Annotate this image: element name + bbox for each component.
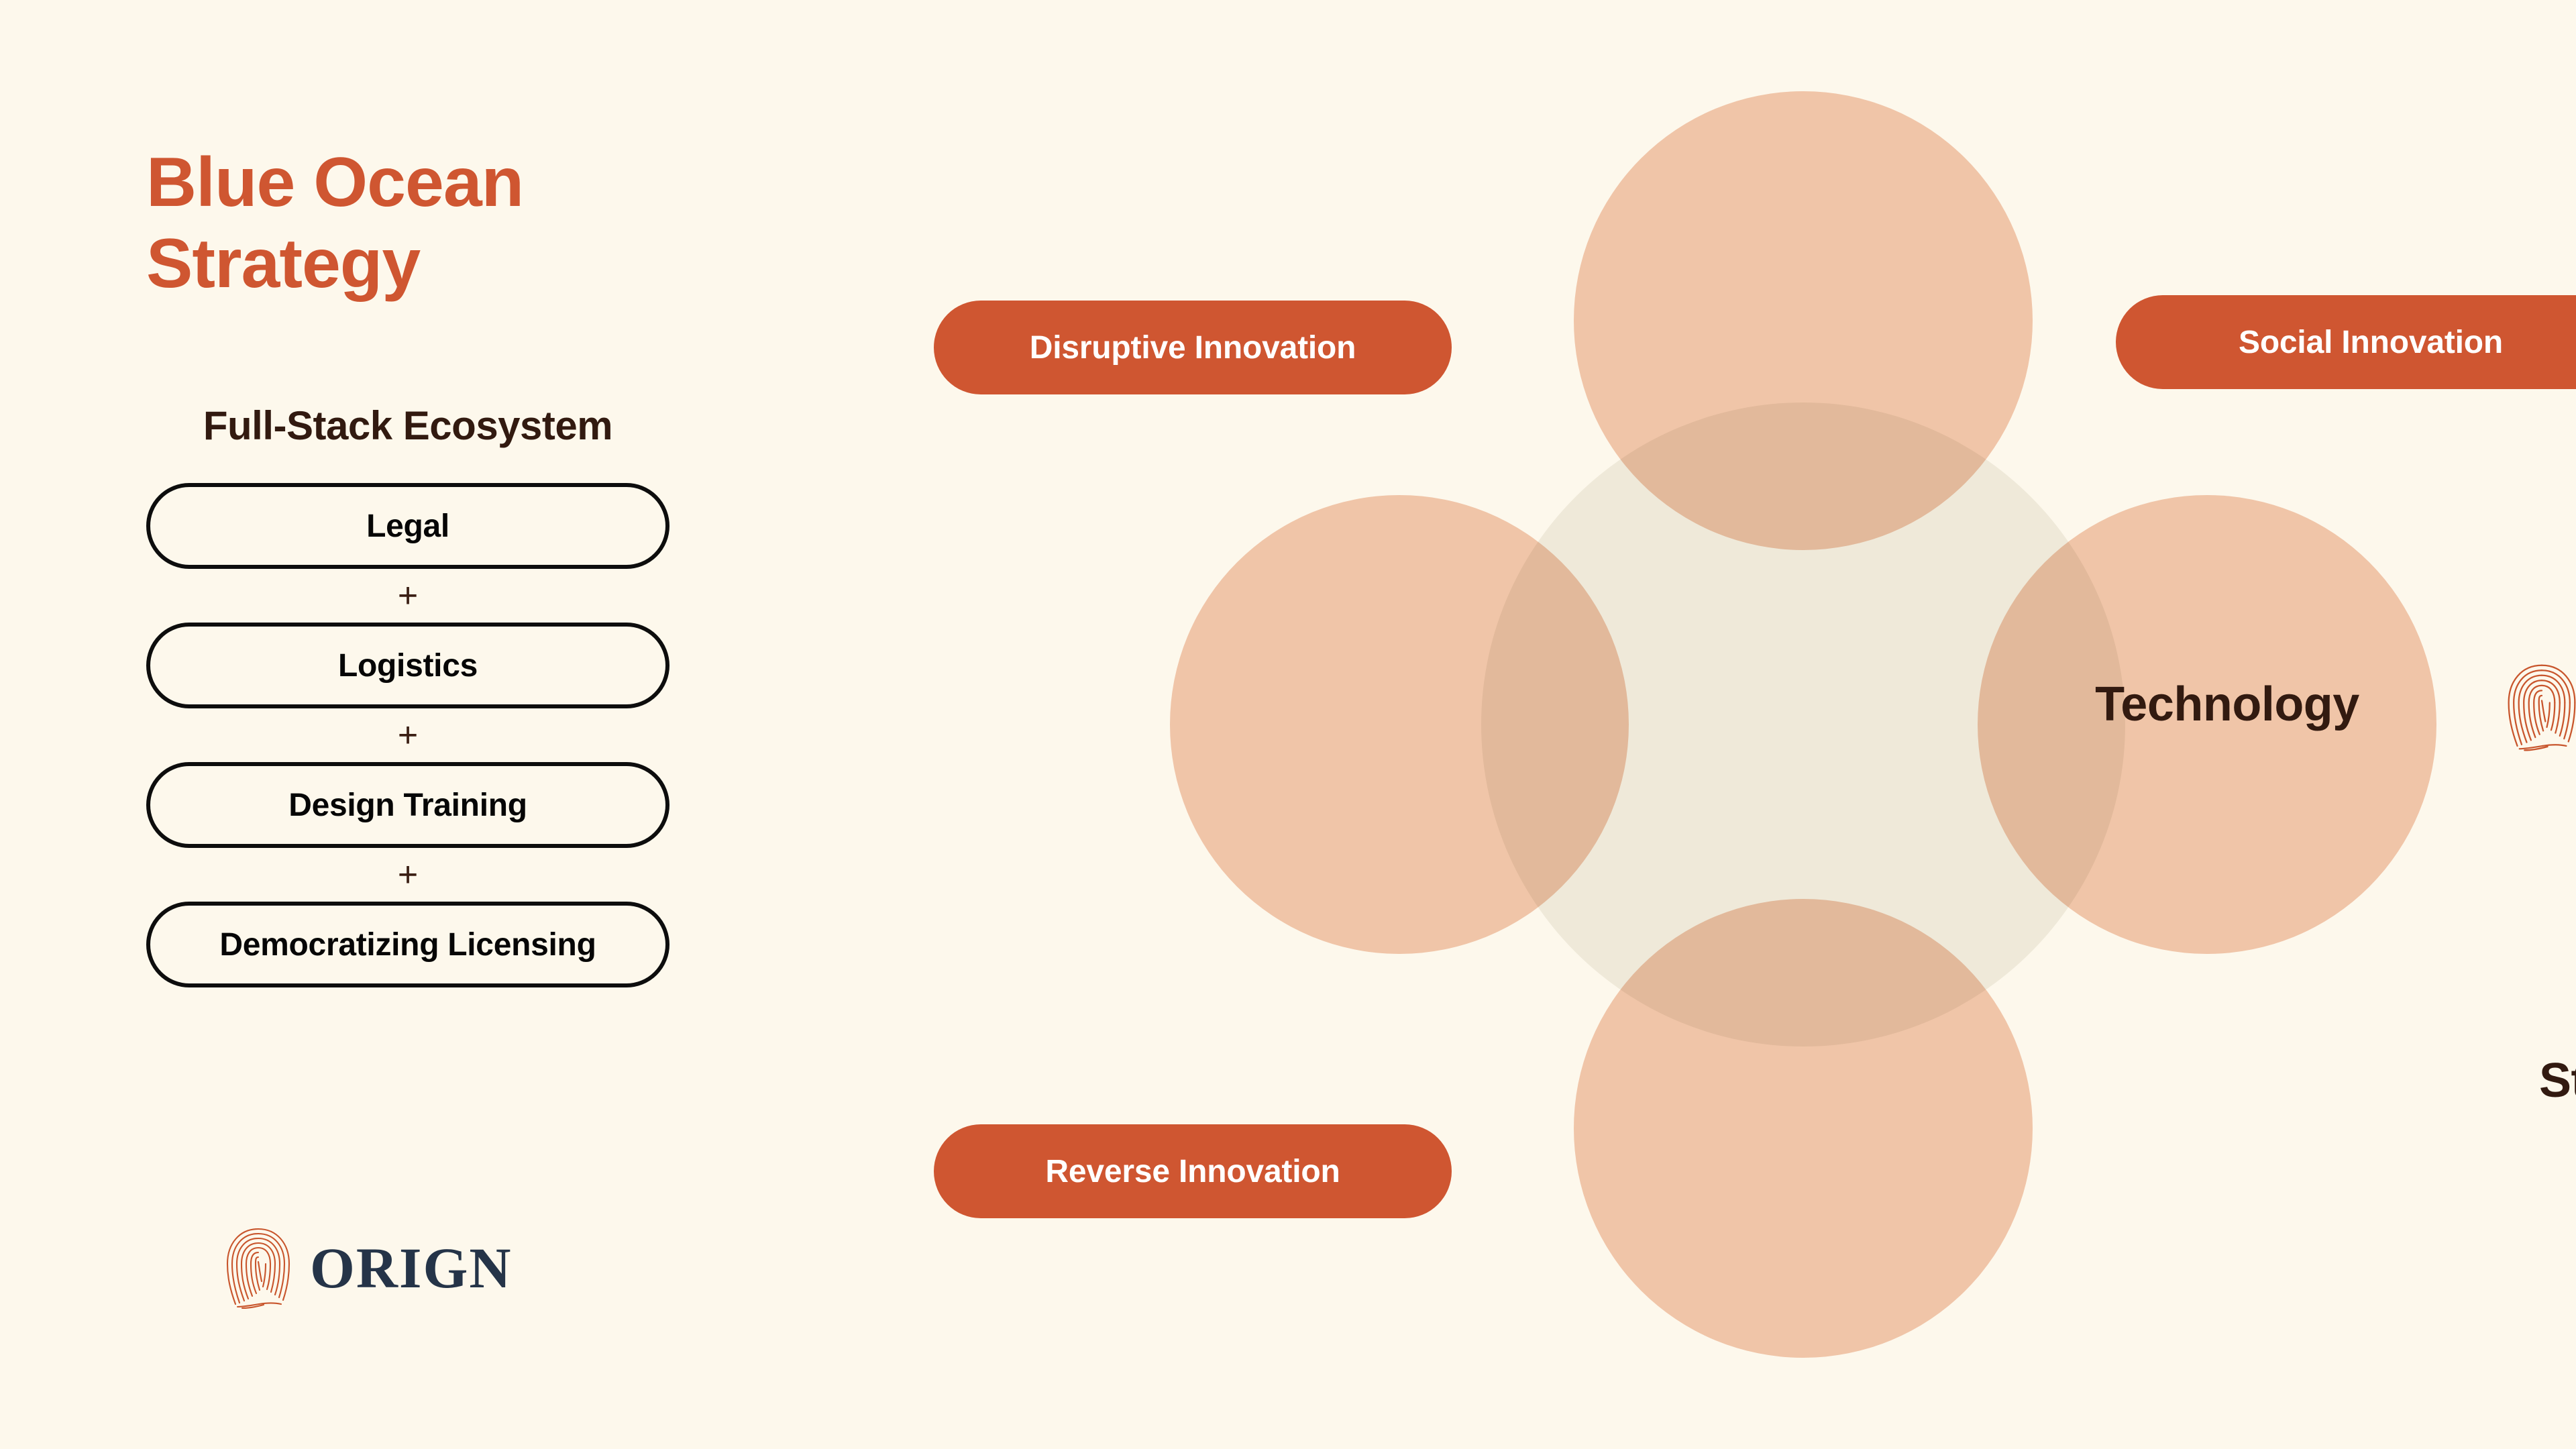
page-title: Blue Ocean Strategy <box>146 142 616 304</box>
logo-wordmark: ORIGN <box>310 1239 512 1297</box>
tag-label: Disruptive Innovation <box>1030 329 1356 366</box>
tag-label: Social Innovation <box>2239 324 2503 361</box>
plus-separator-1: + <box>146 569 669 623</box>
center-logo: ORIGN <box>2502 661 2576 753</box>
ecosystem-heading: Full-Stack Ecosystem <box>146 402 669 449</box>
page-title-line-1: Blue Ocean <box>146 142 616 223</box>
circle-craft <box>1574 91 2033 550</box>
stack-item-label: Design Training <box>288 787 527 824</box>
tag-disruptive-innovation[interactable]: Disruptive Innovation <box>934 301 1452 394</box>
venn-circles <box>872 0 2576 1449</box>
stack-item-legal[interactable]: Legal <box>146 483 669 569</box>
stack-item-label: Democratizing Licensing <box>219 926 596 963</box>
fingerprint-icon <box>2502 661 2576 753</box>
stack-item-democratizing-licensing[interactable]: Democratizing Licensing <box>146 902 669 987</box>
stack-item-label: Legal <box>366 508 449 545</box>
circle-legal-protection <box>1978 495 2436 954</box>
sidebar-logo: ORIGN <box>221 1225 512 1311</box>
sidebar-panel: Blue Ocean Strategy Full-Stack Ecosystem… <box>0 0 872 1449</box>
plus-separator-3: + <box>146 848 669 902</box>
stack-item-label: Logistics <box>338 647 478 684</box>
tag-label: Reverse Innovation <box>1045 1153 1340 1190</box>
circle-cultural-storytelling <box>1574 899 2033 1358</box>
venn-diagram-area: Craft Technology Legal Protection Cultur… <box>872 0 2576 1449</box>
page-title-line-2: Strategy <box>146 223 616 305</box>
fingerprint-icon <box>221 1225 295 1311</box>
tag-social-innovation[interactable]: Social Innovation <box>2116 295 2576 389</box>
stack-item-logistics[interactable]: Logistics <box>146 623 669 708</box>
full-stack-ecosystem-list: Legal + Logistics + Design Training + De… <box>146 483 669 987</box>
tag-reverse-innovation[interactable]: Reverse Innovation <box>934 1124 1452 1218</box>
stack-item-design-training[interactable]: Design Training <box>146 762 669 848</box>
circle-technology <box>1170 495 1629 954</box>
plus-separator-2: + <box>146 708 669 762</box>
